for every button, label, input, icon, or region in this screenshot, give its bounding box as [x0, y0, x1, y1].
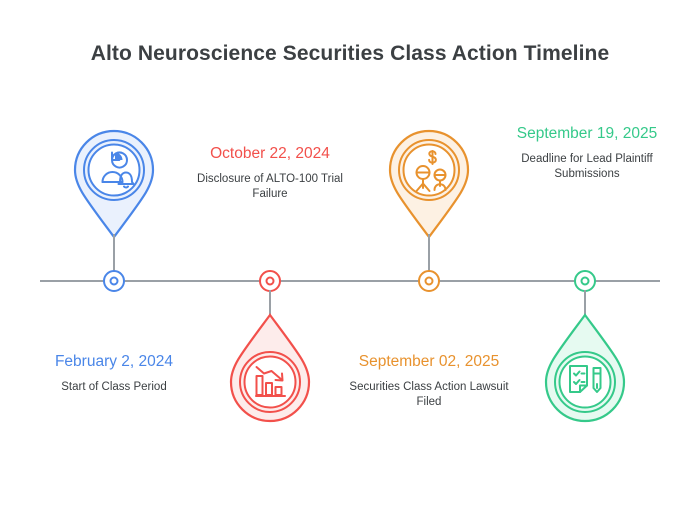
pin-class-action-lawsuit-filed[interactable]	[386, 128, 472, 238]
timeline-axis	[40, 280, 660, 282]
node-inner-dot	[266, 277, 275, 286]
event-description: Securities Class Action Lawsuit Filed	[339, 380, 519, 410]
event-text-alto-100-trial-failure: October 22, 2024 Disclosure of ALTO-100 …	[180, 144, 360, 202]
event-text-lead-plaintiff-deadline: September 19, 2025 Deadline for Lead Pla…	[497, 124, 677, 182]
event-date: September 02, 2025	[339, 352, 519, 371]
event-description: Start of Class Period	[24, 380, 204, 395]
node-alto-100-trial-failure[interactable]	[259, 270, 281, 292]
node-inner-dot	[425, 277, 434, 286]
event-text-class-action-lawsuit-filed: September 02, 2025 Securities Class Acti…	[339, 352, 519, 410]
node-inner-dot	[581, 277, 590, 286]
node-inner-dot	[110, 277, 119, 286]
pin-start-of-class-period[interactable]	[71, 128, 157, 238]
node-start-of-class-period[interactable]	[103, 270, 125, 292]
event-description: Disclosure of ALTO-100 Trial Failure	[180, 172, 360, 202]
pin-alto-100-trial-failure[interactable]	[227, 312, 313, 422]
event-description: Deadline for Lead Plaintiff Submissions	[497, 152, 677, 182]
node-class-action-lawsuit-filed[interactable]	[418, 270, 440, 292]
page-title: Alto Neuroscience Securities Class Actio…	[0, 42, 700, 66]
event-text-start-of-class-period: February 2, 2024 Start of Class Period	[24, 352, 204, 395]
node-lead-plaintiff-deadline[interactable]	[574, 270, 596, 292]
pin-lead-plaintiff-deadline[interactable]	[542, 312, 628, 422]
event-date: February 2, 2024	[24, 352, 204, 371]
timeline-infographic: Alto Neuroscience Securities Class Actio…	[0, 0, 700, 511]
event-date: October 22, 2024	[180, 144, 360, 163]
event-date: September 19, 2025	[497, 124, 677, 143]
